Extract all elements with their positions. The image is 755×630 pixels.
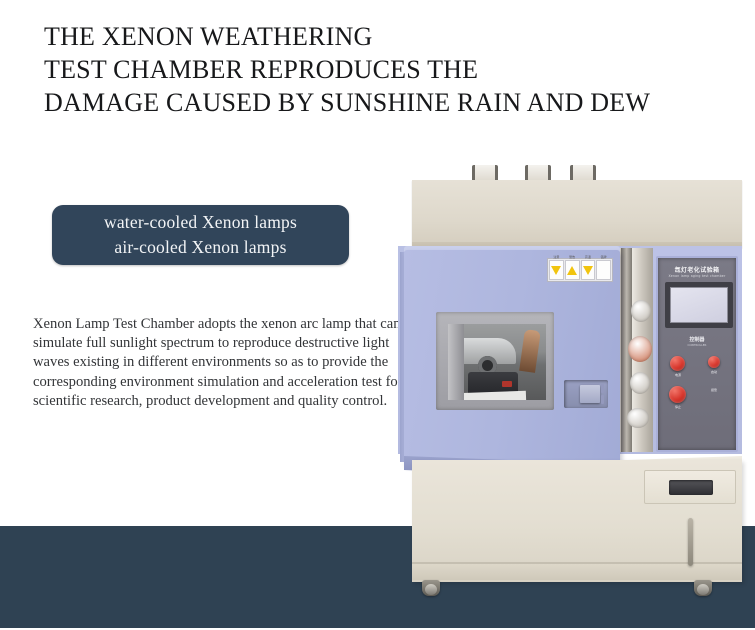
window-glass xyxy=(448,324,546,400)
high-temperature-warning-icon: 高温 xyxy=(581,260,596,280)
power-button-label: 电源 xyxy=(664,373,692,377)
sticker-caption-3: 高温 xyxy=(582,254,595,260)
door-handle[interactable] xyxy=(564,380,608,408)
base-cabinet-plinth xyxy=(412,564,742,580)
control-panel-display-screen[interactable] xyxy=(670,287,728,323)
control-panel-section-en: CONTROLLER xyxy=(658,343,736,347)
nameplate-label-icon: 铭牌 xyxy=(596,260,611,280)
sticker-caption-1: 注意 xyxy=(550,254,563,260)
start-button[interactable] xyxy=(708,356,720,368)
badge-line-air-cooled: air-cooled Xenon lamps xyxy=(114,235,286,260)
drawer-pull-handle[interactable] xyxy=(669,480,713,495)
control-panel-title: 氙灯老化试验箱 Xenon lamp aging test chamber xyxy=(658,265,736,278)
chamber-top-cap xyxy=(412,180,742,248)
general-warning-icon: 警告 xyxy=(565,260,580,280)
badge-line-water-cooled: water-cooled Xenon lamps xyxy=(104,210,297,235)
internal-component-2 xyxy=(628,336,652,362)
power-button[interactable] xyxy=(670,356,685,371)
control-panel-title-cn: 氙灯老化试验箱 xyxy=(658,265,736,274)
sticker-caption-2: 警告 xyxy=(566,254,579,260)
internal-component-4 xyxy=(627,408,649,428)
door-handle-pin-top xyxy=(601,384,604,393)
side-door-handle[interactable] xyxy=(688,518,693,566)
caster-left xyxy=(422,580,440,596)
page-title: THE XENON WEATHERING TEST CHAMBER REPROD… xyxy=(44,20,724,119)
product-illustration: 注意 警告 高温 铭牌 xyxy=(398,160,755,590)
product-description: Xenon Lamp Test Chamber adopts the xenon… xyxy=(33,315,415,411)
window-reflection-sill xyxy=(456,391,526,400)
high-voltage-warning-icon: 注意 xyxy=(549,260,564,280)
window-frame-jamb xyxy=(448,324,464,400)
control-panel-section-label: 控制器 CONTROLLER xyxy=(658,336,736,347)
caster-right xyxy=(694,580,712,596)
headline-line-1: THE XENON WEATHERING xyxy=(44,20,724,53)
control-panel[interactable]: 氙灯老化试验箱 Xenon lamp aging test chamber 控制… xyxy=(656,256,738,452)
sticker-caption-4: 铭牌 xyxy=(597,254,610,260)
control-panel-section-cn: 控制器 xyxy=(658,336,736,343)
door-viewing-window xyxy=(436,312,554,410)
stop-button-label: 停止 xyxy=(664,405,692,409)
door-handle-grip xyxy=(580,385,600,403)
chamber-door: 注意 警告 高温 铭牌 xyxy=(404,250,620,464)
door-handle-pin-bottom xyxy=(601,395,604,404)
start-button-label: 启动 xyxy=(700,370,728,374)
alarm-indicator-label: 报警 xyxy=(700,388,728,392)
headline-line-3: DAMAGE CAUSED BY SUNSHINE RAIN AND DEW xyxy=(44,86,724,119)
control-panel-title-en: Xenon lamp aging test chamber xyxy=(658,274,736,278)
internal-component-1 xyxy=(631,300,651,322)
control-panel-display-bezel xyxy=(665,282,733,328)
warning-sticker-strip: 注意 警告 高温 铭牌 xyxy=(547,258,613,282)
lamp-type-badge: water-cooled Xenon lamps air-cooled Xeno… xyxy=(52,205,349,265)
base-access-drawer[interactable] xyxy=(644,470,736,504)
internal-component-3 xyxy=(630,372,650,394)
headline-line-2: TEST CHAMBER REPRODUCES THE xyxy=(44,53,724,86)
stop-button[interactable] xyxy=(669,386,686,403)
